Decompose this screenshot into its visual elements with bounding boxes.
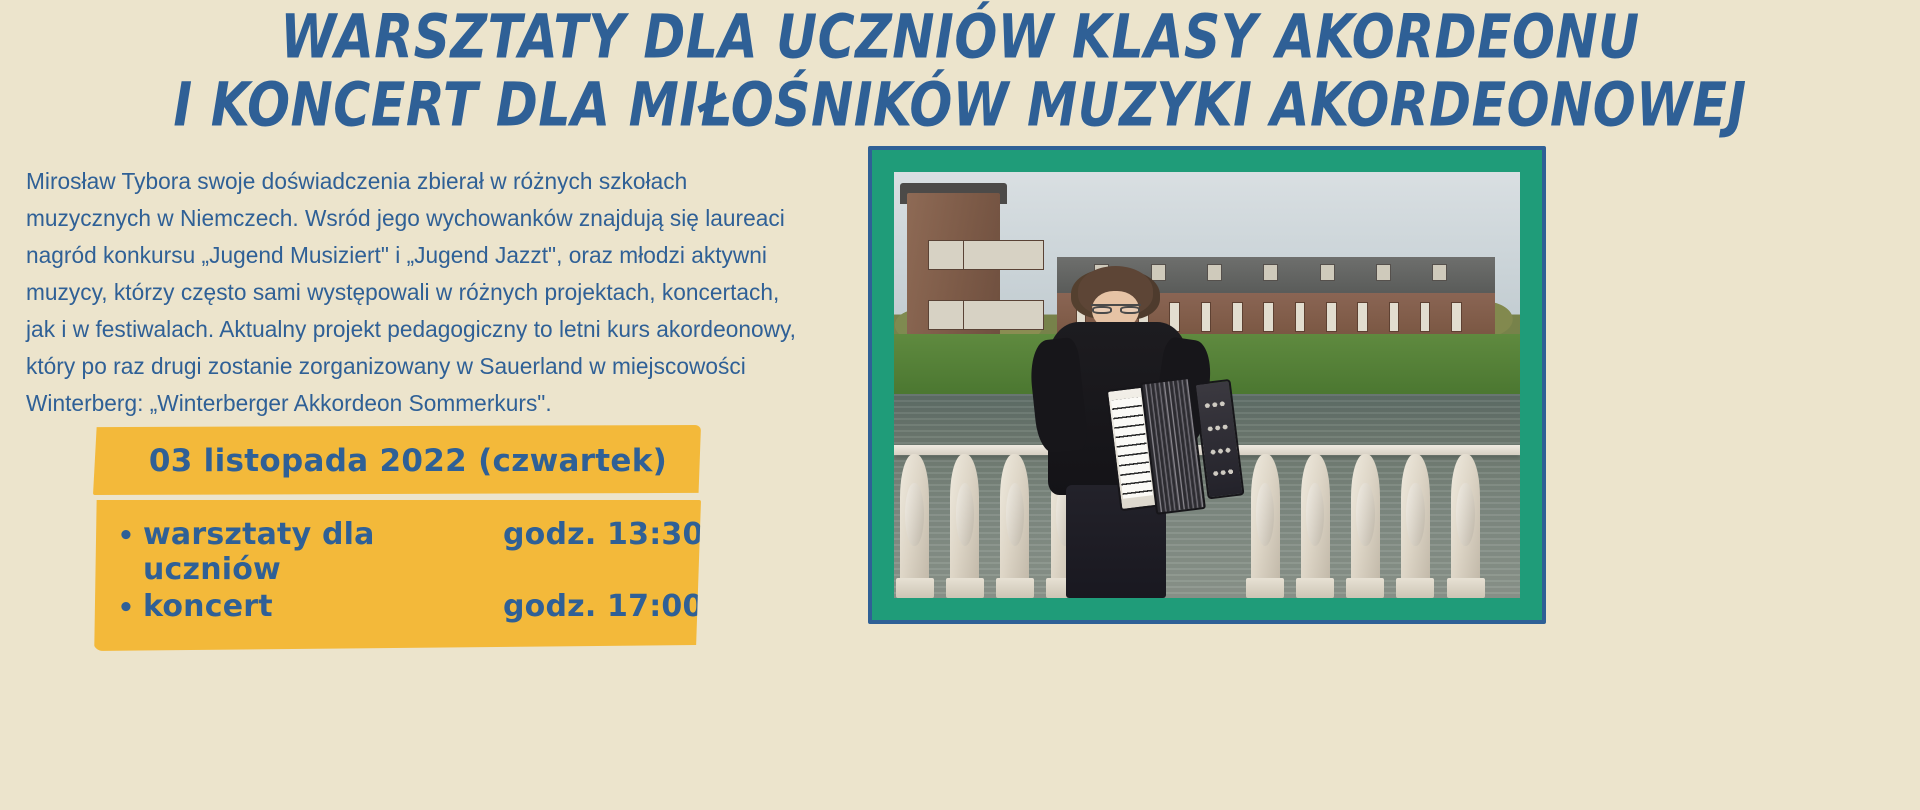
- poster-root: WARSZTATY DLA UCZNIÓW KLASY AKORDEONU I …: [0, 0, 1920, 810]
- schedule-list: • warsztaty dla uczniów godz. 13:30 • ko…: [93, 500, 701, 651]
- left-column: Mirosław Tybora swoje doświadczenia zbie…: [26, 163, 826, 422]
- accordion-instrument: [1105, 372, 1245, 519]
- bullet-icon: •: [93, 523, 143, 549]
- manor-window: [1451, 302, 1462, 332]
- bullet-icon: •: [93, 595, 143, 621]
- baluster: [1301, 454, 1330, 598]
- manor-window: [1326, 302, 1337, 332]
- page-title-line-1: WARSZTATY DLA UCZNIÓW KLASY AKORDEONU: [10, 8, 1911, 69]
- schedule-item-time: godz. 13:30: [503, 517, 704, 552]
- page-title: WARSZTATY DLA UCZNIÓW KLASY AKORDEONU I …: [0, 8, 1920, 128]
- schedule-divider: [93, 495, 701, 500]
- roof-dormer: [1376, 264, 1391, 281]
- baluster: [1351, 454, 1380, 598]
- baluster: [1451, 454, 1480, 598]
- schedule-item-label: warsztaty dla uczniów: [143, 517, 503, 587]
- accordionist-photo: [894, 172, 1520, 598]
- glasses-icon: [1091, 304, 1141, 314]
- manor-window: [1357, 302, 1368, 332]
- biography-paragraph: Mirosław Tybora swoje doświadczenia zbie…: [26, 163, 798, 422]
- accordionist-figure: [1013, 266, 1263, 598]
- schedule-item-label: koncert: [143, 589, 503, 624]
- schedule-item-time: godz. 17:00: [503, 589, 704, 624]
- baluster: [1401, 454, 1430, 598]
- schedule-date-banner: 03 listopada 2022 (czwartek): [93, 425, 701, 495]
- list-item: • koncert godz. 17:00: [93, 588, 701, 625]
- manor-window: [1420, 302, 1431, 332]
- baluster: [900, 454, 929, 598]
- photo-scene: [894, 172, 1520, 598]
- baluster: [950, 454, 979, 598]
- manor-window: [1263, 302, 1274, 332]
- manor-window: [1389, 302, 1400, 332]
- page-title-line-2: I KONCERT DLA MIŁOŚNIKÓW MUZYKI AKORDEON…: [10, 76, 1911, 137]
- event-date: 03 listopada 2022 (czwartek): [93, 443, 701, 479]
- schedule-card: 03 listopada 2022 (czwartek) • warsztaty…: [93, 425, 701, 651]
- roof-dormer: [1320, 264, 1335, 281]
- roof-dormer: [1263, 264, 1278, 281]
- list-item: • warsztaty dla uczniów godz. 13:30: [93, 516, 701, 588]
- roof-dormer: [1432, 264, 1447, 281]
- manor-window: [1295, 302, 1306, 332]
- photo-frame: [868, 146, 1546, 624]
